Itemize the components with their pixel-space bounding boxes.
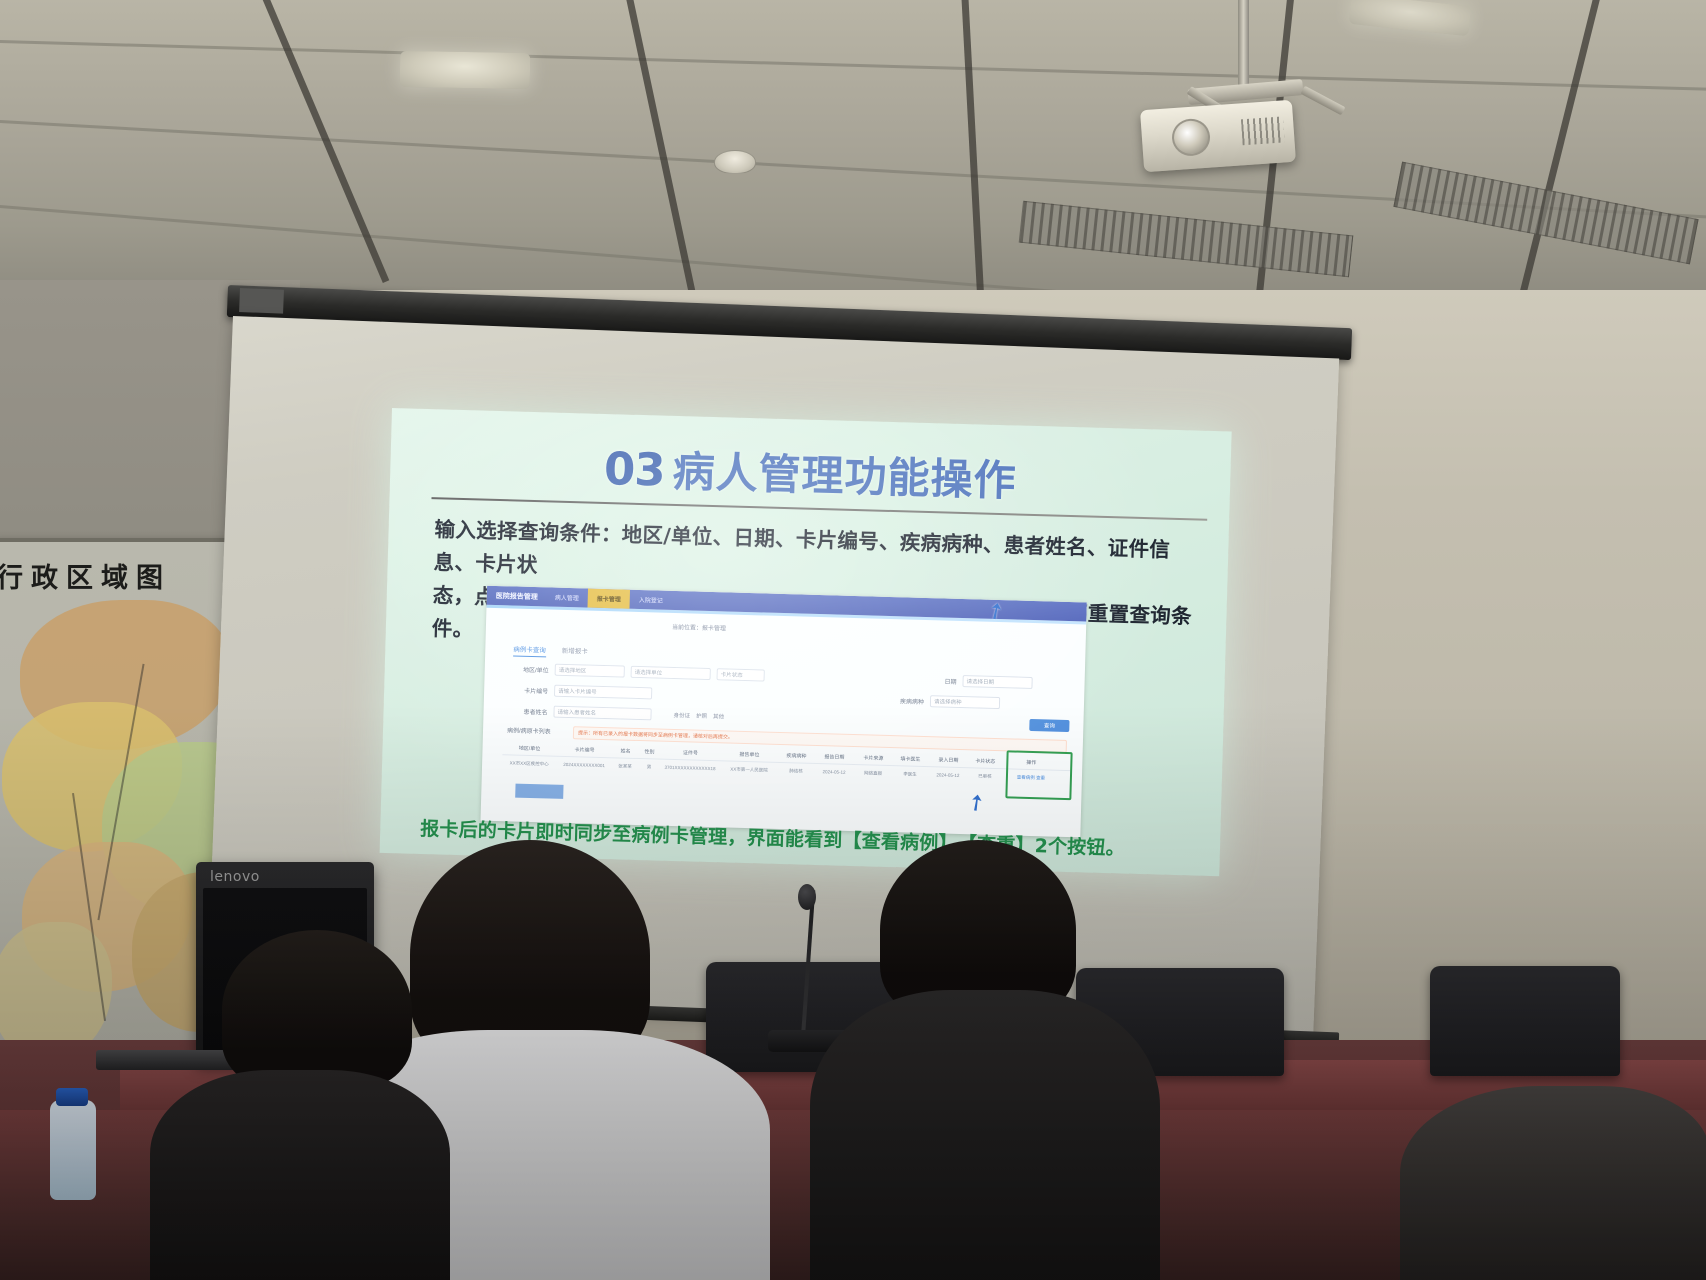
app-th-name: 姓名: [612, 747, 638, 755]
app-th-source: 卡片来源: [854, 754, 892, 762]
monitor-brand-label: lenovo: [210, 869, 260, 885]
app-td-region: XX市XX区疾控中心: [502, 760, 556, 768]
projection-screen-mount: [239, 288, 284, 314]
smoke-detector-icon: [714, 150, 756, 174]
app-input-disease[interactable]: 请选择病种: [930, 695, 1000, 709]
app-th-region: 地区/单位: [502, 744, 556, 753]
wall-map-title: 行政区域图: [0, 556, 171, 595]
app-query-button[interactable]: 查询: [1029, 719, 1069, 732]
projector-mount-pole: [1238, 0, 1249, 88]
app-input-date[interactable]: 请选择日期: [962, 675, 1032, 689]
projector-vent: [1241, 116, 1285, 145]
projector: [1140, 100, 1296, 172]
ceiling-light: [400, 51, 531, 89]
app-field-label-region: 地区/单位: [509, 664, 549, 674]
app-field-label-disease: 疾病病种: [890, 696, 924, 706]
app-th-card-status: 卡片状态: [968, 757, 1002, 765]
slide-number: 03: [603, 442, 665, 497]
projector-lens-icon: [1171, 118, 1211, 158]
ceiling-grid-line: [0, 40, 1706, 92]
app-nav-item-admission[interactable]: 入院登记: [630, 590, 673, 610]
chair: [1430, 966, 1620, 1076]
app-td-gender: 男: [638, 764, 660, 771]
app-radio-idcard[interactable]: 身份证: [673, 711, 690, 719]
app-th-gender: 性别: [638, 748, 660, 756]
app-input-card-status[interactable]: 卡片状态: [717, 668, 765, 681]
app-tabs: 病例卡查询 新增报卡: [513, 643, 588, 658]
app-td-name: 张某某: [612, 763, 638, 770]
app-input-region[interactable]: 请选择地区: [555, 664, 625, 678]
app-td-card-status: 已审核: [968, 773, 1002, 780]
app-th-card-no: 卡片编号: [556, 746, 612, 755]
slide-title: 病人管理功能操作: [672, 447, 1017, 506]
app-td-disease: 肺结核: [778, 768, 814, 775]
ceiling-beam: [1518, 0, 1607, 302]
audience-person-body: [810, 990, 1160, 1280]
app-selection-block: [515, 784, 563, 799]
app-td-report-unit: XX市第一人民医院: [720, 766, 778, 774]
app-nav-item-patient[interactable]: 病人管理: [546, 587, 589, 607]
app-th-entry-date: 录入日期: [928, 756, 968, 764]
slide-title-row: 03病人管理功能操作: [390, 430, 1231, 514]
ceiling-air-vent: [1019, 201, 1354, 277]
app-input-name[interactable]: 请输入患者姓名: [553, 706, 651, 721]
app-td-card-no: 2024XXXXXXXX001: [556, 762, 612, 770]
app-breadcrumb: 当前位置：报卡管理: [672, 622, 726, 633]
audience-person-body: [1400, 1086, 1706, 1280]
app-input-unit[interactable]: 请选择单位: [631, 666, 711, 680]
app-th-report-unit: 报告单位: [720, 750, 778, 759]
water-bottle-cap: [56, 1088, 88, 1106]
app-field-label-name: 患者姓名: [507, 706, 547, 716]
app-actions-highlight-box: [1005, 750, 1072, 800]
audience-person-head: [222, 930, 412, 1090]
app-brand: 医院报告管理: [487, 590, 546, 602]
app-td-idno: 3701XXXXXXXXXXXX18: [660, 765, 720, 773]
app-field-label-date: 日期: [930, 676, 956, 686]
app-th-doctor: 填卡医生: [892, 755, 928, 763]
app-tab-query[interactable]: 病例卡查询: [513, 643, 546, 657]
embedded-app-screenshot: 医院报告管理 病人管理 报卡管理 入院登记 当前位置：报卡管理 病例卡查询 新增…: [481, 586, 1087, 838]
app-td-report-date: 2024-05-12: [814, 769, 854, 776]
ceiling-air-vent: [1393, 162, 1698, 265]
water-bottle: [50, 1100, 96, 1200]
app-th-disease: 疾病病种: [778, 752, 814, 760]
projected-slide: 03病人管理功能操作 输入选择查询条件：地区/单位、日期、卡片编号、疾病病种、患…: [380, 408, 1232, 876]
conference-room-scene: 行政区域图 03病人管理功能操作 输入选择查询条件：地区/单位、日期、卡片编号、…: [0, 0, 1706, 1280]
app-radio-other[interactable]: 其他: [713, 712, 724, 720]
ceiling: [0, 0, 1706, 300]
app-th-report-date: 报告日期: [814, 753, 854, 761]
app-radio-passport[interactable]: 护照: [696, 712, 707, 720]
app-nav-item-card[interactable]: 报卡管理: [588, 589, 631, 609]
app-td-doctor: 李医生: [892, 771, 928, 778]
app-list-section-label: 病例/病原卡列表: [507, 725, 551, 735]
microphone-icon: [798, 884, 816, 910]
app-th-idno: 证件号: [660, 749, 720, 758]
ceiling-beam: [960, 0, 985, 320]
audience-person-body: [150, 1070, 450, 1280]
ceiling-light: [1349, 0, 1471, 36]
app-td-source: 网络直报: [854, 770, 892, 777]
app-field-label-card-no: 卡片编号: [508, 685, 548, 695]
callout-arrow-icon: ➚: [961, 787, 991, 819]
app-tab-new[interactable]: 新增报卡: [562, 645, 588, 659]
app-td-entry-date: 2024-05-12: [928, 772, 968, 779]
app-input-card-no[interactable]: 请输入卡片编号: [554, 685, 652, 700]
